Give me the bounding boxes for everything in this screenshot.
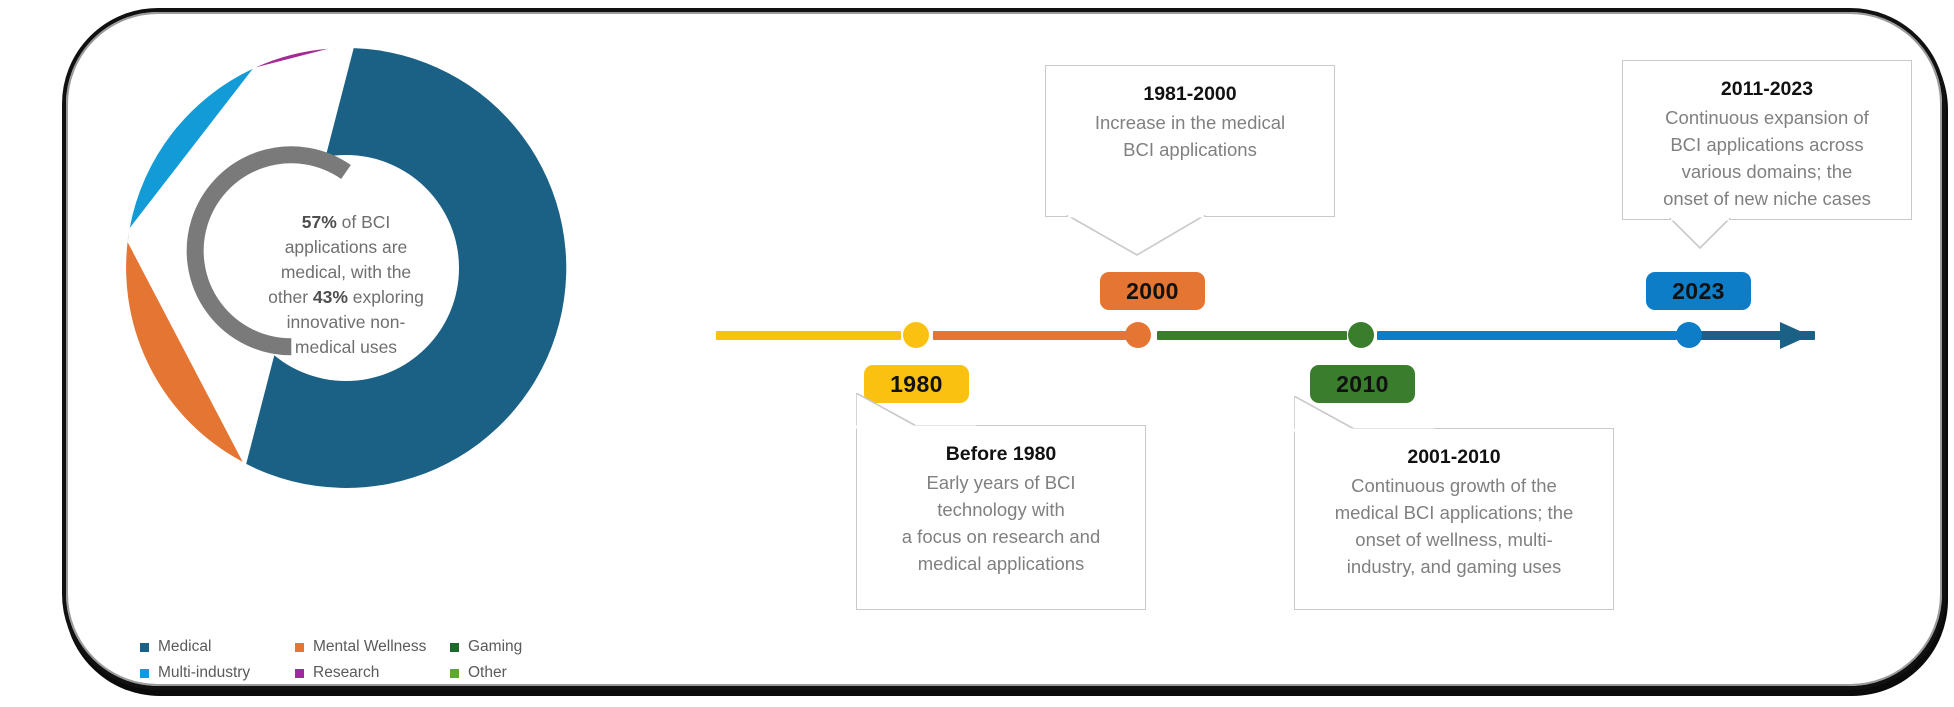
timeline-segment-2011-2023 [1377,331,1677,340]
infographic-canvas: 57% of BCI applications are medical, wit… [0,0,1954,707]
callout-tail-2001-2010 [1294,396,1434,432]
callout-title: 1981-2000 [1056,80,1324,108]
callout-tail-1981-2000 [1045,215,1335,257]
timeline-segment-2001-2010 [1157,331,1347,340]
callout-tail-before-1980 [856,393,976,429]
callout-tail-2011-2023 [1622,218,1912,260]
callout-2001-2010[interactable]: 2001-2010 Continuous growth of the medic… [1294,428,1614,610]
timeline-segment-pre1980 [716,331,901,340]
timeline-dot-1980[interactable] [903,322,929,348]
timeline-segment-1981-2000 [933,331,1128,340]
callout-1981-2000[interactable]: 1981-2000 Increase in the medical BCI ap… [1045,65,1335,217]
timeline-dot-2000[interactable] [1125,322,1151,348]
year-badge-2000[interactable]: 2000 [1100,272,1205,310]
callout-body: Early years of BCI technology with a foc… [867,469,1135,577]
callout-body: Increase in the medical BCI applications [1056,109,1324,163]
callout-title: 2011-2023 [1633,75,1901,103]
timeline: 1980 2000 2010 2023 Before 1980 Early ye… [0,0,1954,707]
callout-body: Continuous growth of the medical BCI app… [1305,472,1603,580]
callout-before-1980[interactable]: Before 1980 Early years of BCI technolog… [856,425,1146,610]
callout-body: Continuous expansion of BCI applications… [1633,104,1901,212]
timeline-dot-2023[interactable] [1676,322,1702,348]
timeline-dot-2010[interactable] [1348,322,1374,348]
callout-title: 2001-2010 [1305,443,1603,471]
timeline-arrow-icon [1680,318,1815,368]
callout-2011-2023[interactable]: 2011-2023 Continuous expansion of BCI ap… [1622,60,1912,220]
callout-title: Before 1980 [867,440,1135,468]
year-badge-2023[interactable]: 2023 [1646,272,1751,310]
